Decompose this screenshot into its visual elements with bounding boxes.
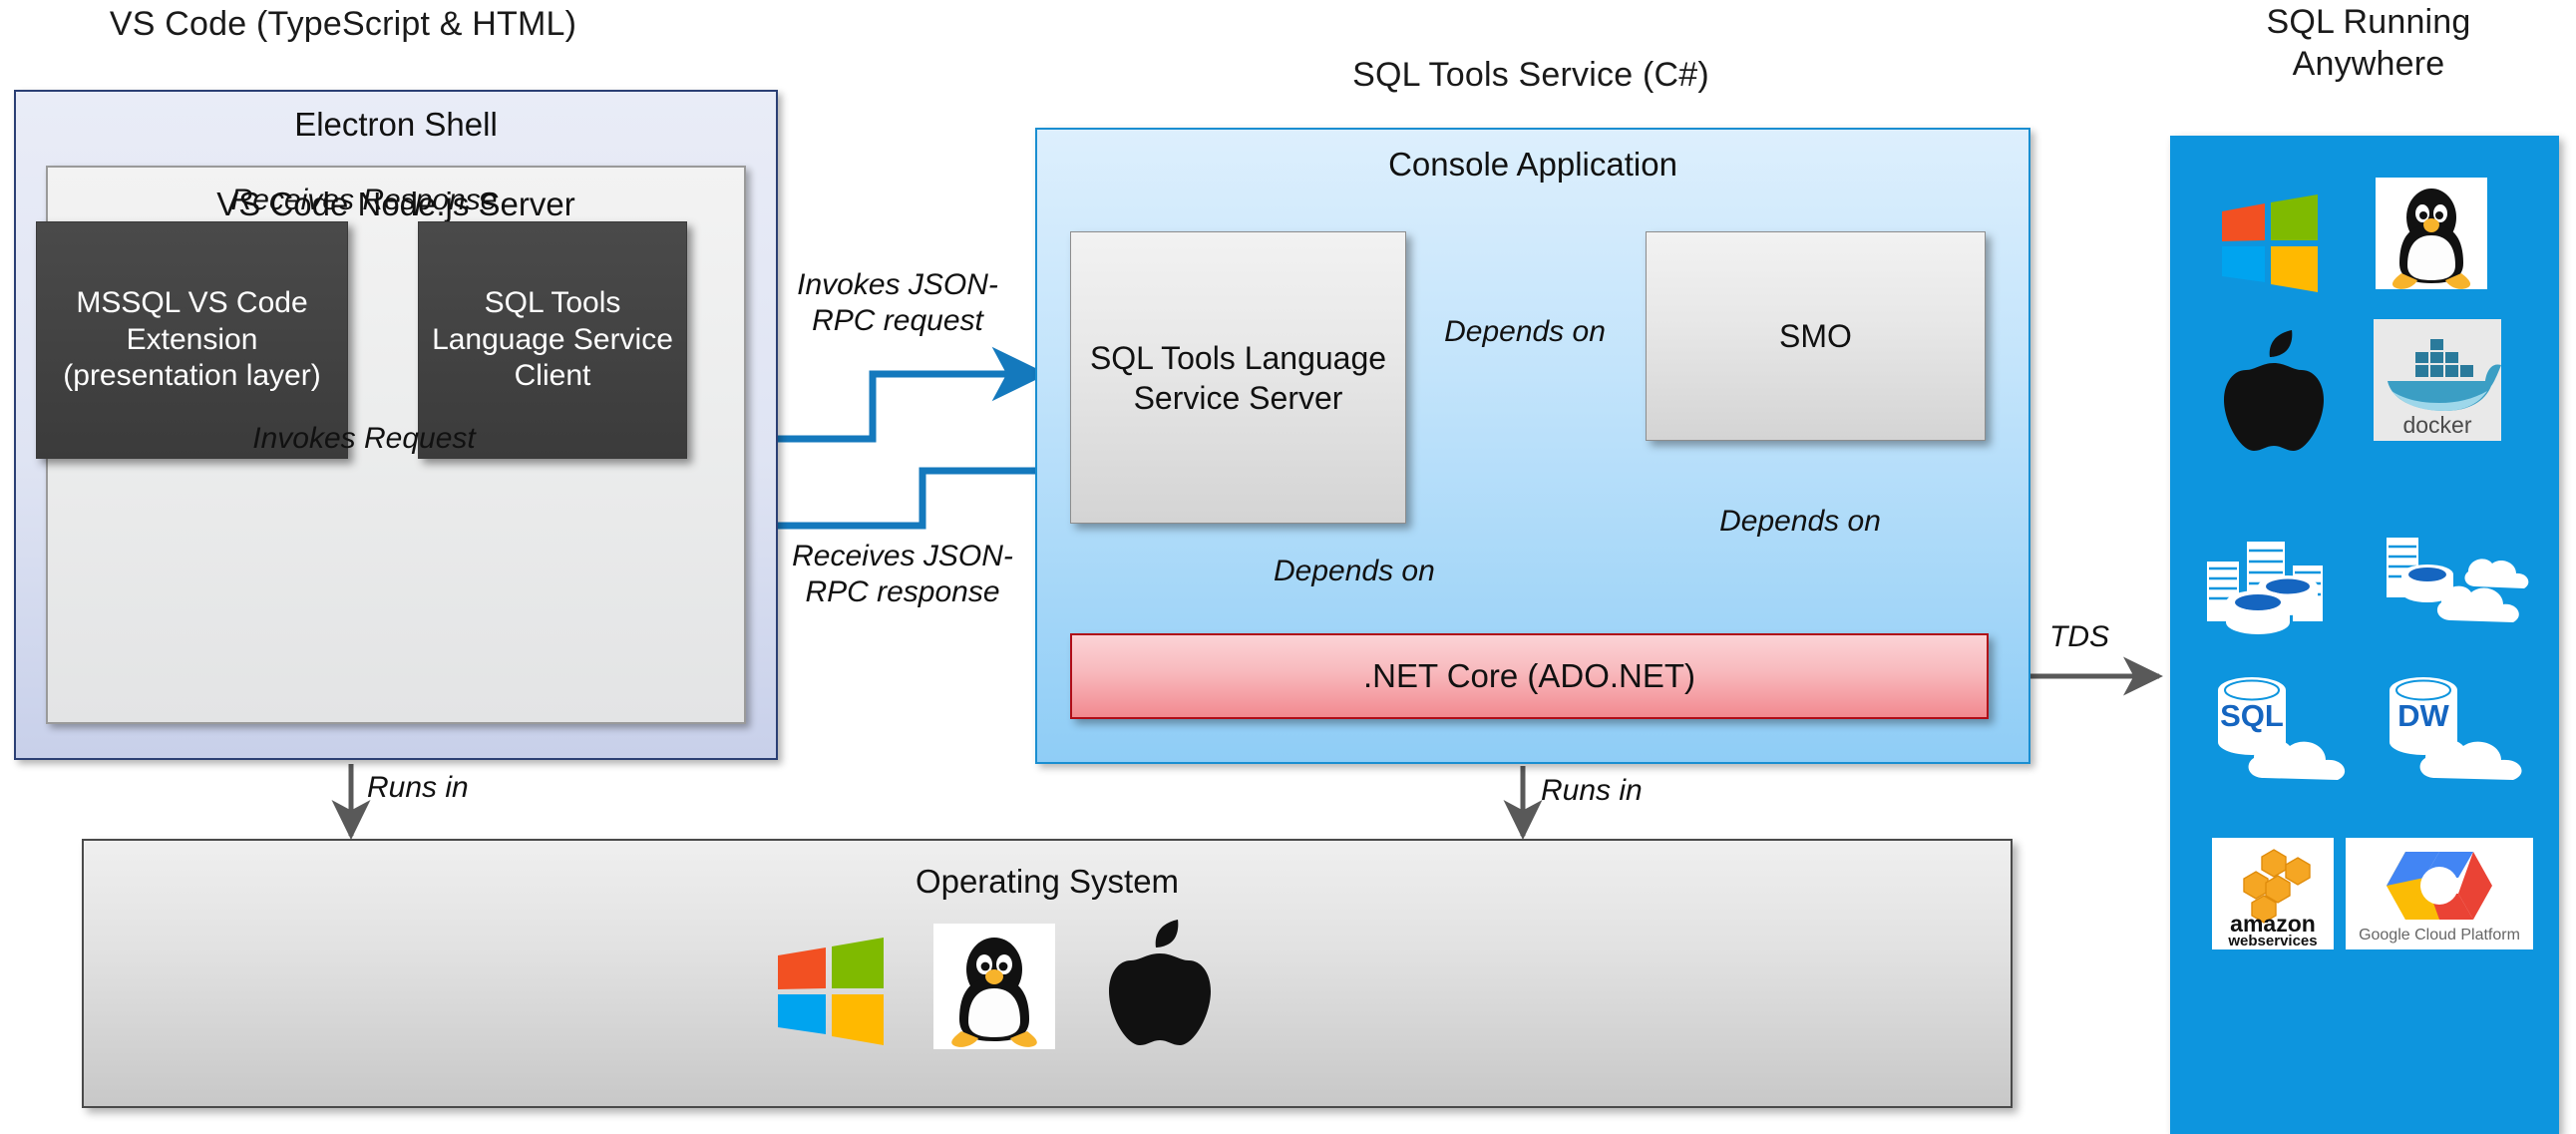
aws-wordmark-line2: webservices xyxy=(2227,933,2317,949)
edge-label-depends-on-smo: Depends on xyxy=(1420,314,1630,350)
google-cloud-platform-logo-icon: Google Cloud Platform xyxy=(2346,838,2533,949)
gcp-wordmark: Google Cloud Platform xyxy=(2359,927,2520,944)
caption-vscode: VS Code (TypeScript & HTML) xyxy=(14,4,672,44)
dw-cylinder-label: DW xyxy=(2397,698,2449,733)
azure-vm-database-icon xyxy=(2380,529,2539,638)
caption-sql-running-anywhere-line1: SQL Running xyxy=(2174,2,2563,42)
edge-label-receives-response: Receives Response xyxy=(199,183,529,218)
dotnet-core-adonet-label: .NET Core (ADO.NET) xyxy=(1363,657,1695,695)
sql-tools-language-service-server-box[interactable]: SQL Tools Language Service Server xyxy=(1070,231,1406,524)
diagram-canvas: VS Code (TypeScript & HTML) SQL Tools Se… xyxy=(0,0,2576,1134)
edge-label-invokes-request: Invokes Request xyxy=(199,421,529,457)
caption-sql-running-anywhere-line2: Anywhere xyxy=(2174,44,2563,84)
edge-label-depends-on-dotnet-core-from-server: Depends on xyxy=(1274,554,1563,589)
docker-wordmark: docker xyxy=(2402,412,2471,438)
azure-sql-data-warehouse-icon: DW xyxy=(2372,670,2541,786)
sql-tools-language-service-server-label: SQL Tools Language Service Server xyxy=(1079,338,1397,418)
caption-sql-tools-service: SQL Tools Service (C#) xyxy=(1057,55,2005,95)
linux-tux-icon xyxy=(933,924,1055,1049)
linux-tux-icon xyxy=(2376,178,2487,289)
smo-box[interactable]: SMO xyxy=(1646,231,1986,441)
edge-label-tds: TDS xyxy=(2015,619,2144,655)
windows-logo-icon xyxy=(776,938,886,1045)
amazon-web-services-logo-icon: amazon webservices xyxy=(2212,838,2334,949)
edge-label-runs-in-service: Runs in xyxy=(1541,773,1760,809)
mssql-vscode-extension-label: MSSQL VS Code Extension (presentation la… xyxy=(45,285,339,395)
on-premises-datacenter-icon xyxy=(2202,529,2350,638)
windows-logo-icon xyxy=(2220,194,2320,292)
apple-logo-icon xyxy=(1107,916,1213,1047)
operating-system-title: Operating System xyxy=(84,863,2011,901)
apple-logo-icon xyxy=(2222,327,2326,453)
docker-whale-icon: docker xyxy=(2374,319,2501,441)
edge-label-runs-in-vscode: Runs in xyxy=(367,770,586,806)
sql-cylinder-label: SQL xyxy=(2220,698,2284,733)
edge-label-depends-on-dotnet-core-from-smo: Depends on xyxy=(1656,504,1945,540)
edge-label-receives-json-rpc-response: Receives JSON-RPC response xyxy=(788,539,1017,610)
edge-label-invokes-json-rpc-request: Invokes JSON-RPC request xyxy=(788,267,1007,339)
console-application-title: Console Application xyxy=(1037,146,2028,184)
azure-sql-database-icon: SQL xyxy=(2202,670,2362,786)
smo-label: SMO xyxy=(1779,316,1852,356)
electron-shell-title: Electron Shell xyxy=(16,106,776,144)
dotnet-core-adonet-box[interactable]: .NET Core (ADO.NET) xyxy=(1070,633,1989,719)
sql-tools-language-service-client-label: SQL Tools Language Service Client xyxy=(427,285,678,395)
